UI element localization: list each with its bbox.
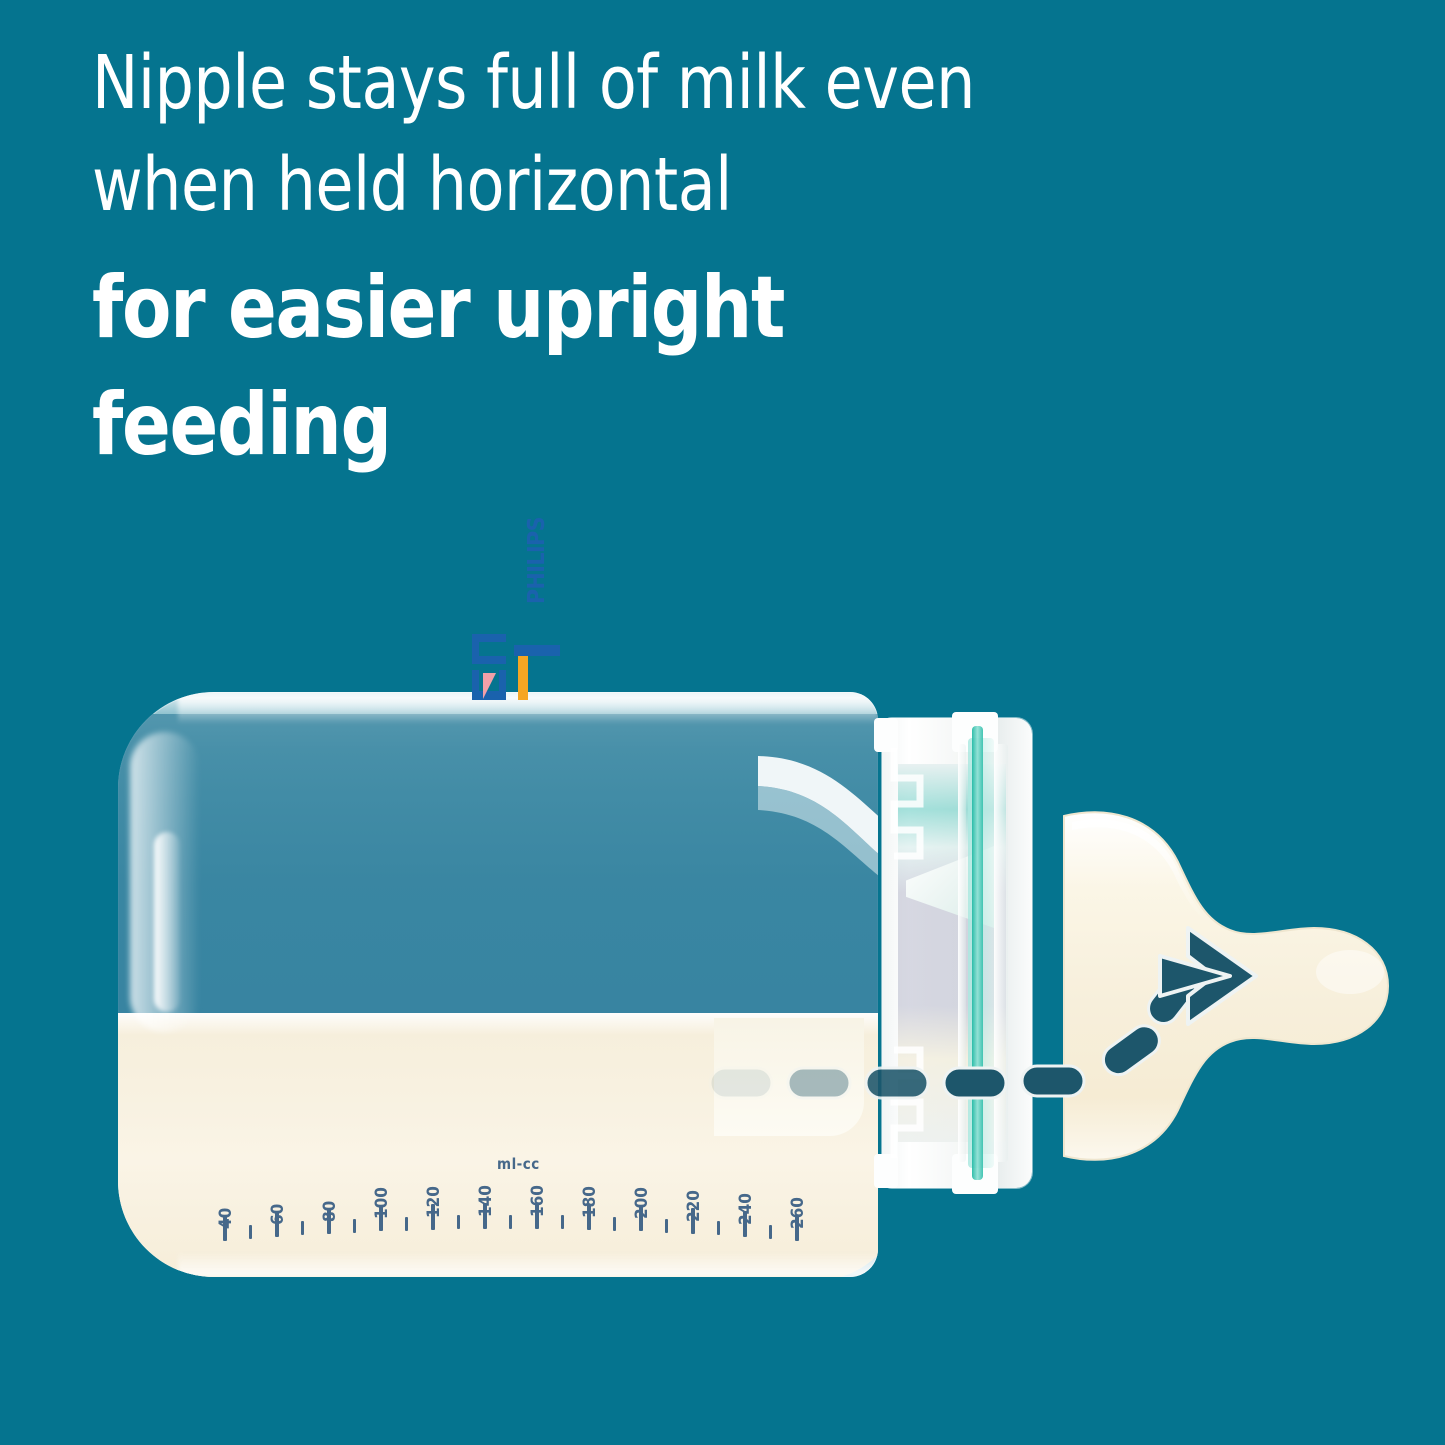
- scale-tick-minor: [249, 1225, 252, 1239]
- scale-tick-label: 40: [216, 1208, 236, 1229]
- avent-wordmark-icon: [470, 550, 512, 700]
- scale-tick-minor: [405, 1217, 408, 1231]
- brand-philips-wordmark: PHILIPS: [524, 517, 550, 604]
- milk-flow-arrow: [690, 900, 1330, 1130]
- scale-tick-label: 120: [424, 1186, 444, 1218]
- scale-tick-label: 60: [268, 1204, 288, 1225]
- headline-block: Nipple stays full of milk even when held…: [92, 32, 1272, 484]
- scale-tick-minor: [561, 1215, 564, 1229]
- scale-tick-label: 160: [528, 1185, 548, 1217]
- scale-tick-minor: [457, 1215, 460, 1229]
- scale-tick-minor: [717, 1221, 720, 1235]
- scale-tick-minor: [301, 1221, 304, 1235]
- scale-tick-label: 100: [372, 1188, 392, 1220]
- scale-tick-minor: [509, 1215, 512, 1229]
- scale-tick-minor: [665, 1219, 668, 1233]
- scale-tick-label: 180: [580, 1186, 600, 1218]
- scale-tick-minor: [353, 1219, 356, 1233]
- brand-avent-logo: AVENT: [470, 517, 512, 700]
- scale-unit-label: ml-cc: [497, 1155, 540, 1173]
- scale-tick-label: 140: [476, 1185, 496, 1217]
- bottle-bottom-highlight: [178, 1251, 878, 1277]
- scale-tick-label: 260: [788, 1197, 808, 1229]
- avent-t-glyph-icon: [514, 640, 562, 700]
- brand-print: AVENT PHILIPS: [470, 517, 550, 700]
- bottle-left-shoulder-highlight-inner: [154, 832, 180, 1012]
- scale-tick-label: 220: [684, 1190, 704, 1222]
- scale-tick-label: 80: [320, 1201, 340, 1222]
- measurement-scale: ml-cc 406080100120140160180200220240260: [205, 1155, 845, 1247]
- poster-canvas: Nipple stays full of milk even when held…: [0, 0, 1445, 1445]
- headline-bold-text: for easier upright feeding: [92, 250, 1189, 484]
- scale-tick-label: 200: [632, 1188, 652, 1220]
- scale-tick-minor: [613, 1217, 616, 1231]
- scale-tick-label: 240: [736, 1193, 756, 1225]
- headline-light-text: Nipple stays full of milk even when held…: [92, 32, 1189, 236]
- scale-tick-minor: [769, 1225, 772, 1239]
